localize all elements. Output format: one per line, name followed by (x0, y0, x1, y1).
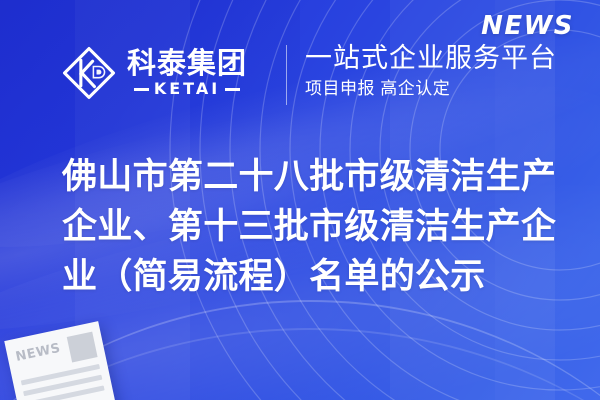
dash-left-icon (134, 88, 149, 91)
tagline-sub: 项目申报 高企认定 (305, 78, 557, 99)
newspaper-illustration: NEWS (4, 321, 120, 400)
brand-name-cn: 科泰集团 (127, 49, 247, 80)
tagline-block: 一站式企业服务平台 项目申报 高企认定 (305, 42, 557, 100)
brand-name-en-row: KETAI (134, 81, 240, 97)
vertical-divider (286, 45, 287, 105)
brand-name-en: KETAI (154, 81, 220, 97)
brand-logo[interactable]: 科泰集团 KETAI (60, 44, 247, 102)
brand-wordmark: 科泰集团 KETAI (127, 49, 247, 98)
newspaper-title: NEWS (14, 341, 62, 365)
headline-title: 佛山市第二十八批市级清洁生产企业、第十三批市级清洁生产企业（简易流程）名单的公示 (62, 152, 574, 302)
banner-header: NEWS (0, 0, 600, 140)
dash-right-icon (225, 88, 240, 91)
ketai-diamond-monogram-icon (60, 44, 118, 102)
news-badge: NEWS (481, 11, 574, 41)
tagline-main: 一站式企业服务平台 (305, 42, 557, 74)
news-banner: NEWS (0, 0, 600, 400)
newspaper-thumbnail-icon (67, 332, 98, 363)
